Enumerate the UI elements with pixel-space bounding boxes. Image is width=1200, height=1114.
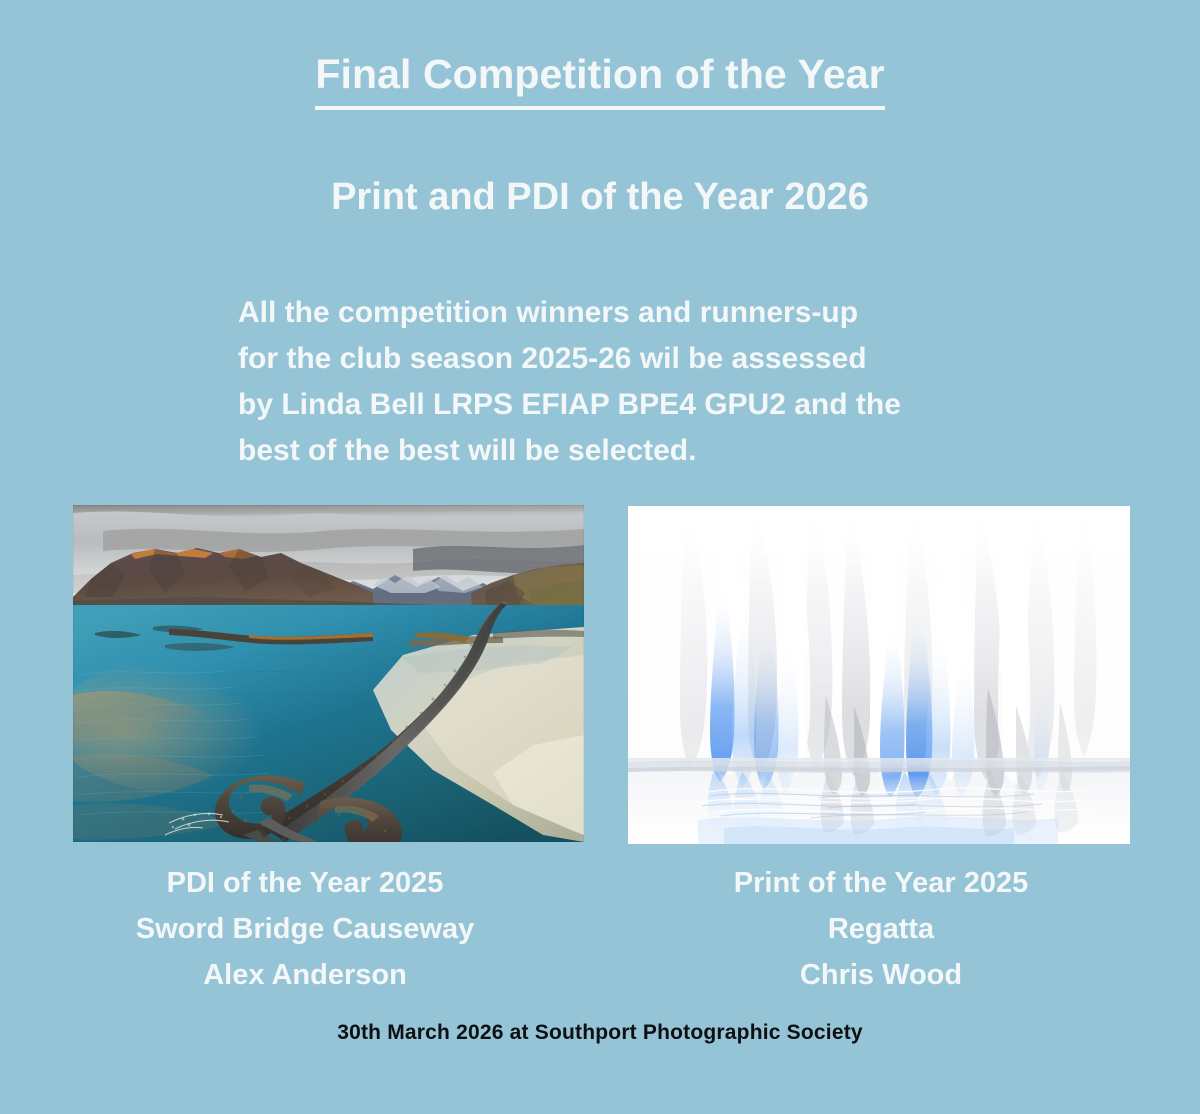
pdi-work-title: Sword Bridge Causeway	[55, 907, 555, 953]
print-winner-caption: Print of the Year 2025 Regatta Chris Woo…	[660, 861, 1102, 998]
pdi-author-name: Alex Anderson	[55, 953, 555, 999]
pdi-winner-photo-artwork	[73, 505, 584, 842]
page-title: Final Competition of the Year	[315, 52, 884, 110]
description-line-2: for the club season 2025-26 wil be asses…	[238, 336, 998, 382]
description-line-1: All the competition winners and runners-…	[238, 290, 998, 336]
description-line-3: by Linda Bell LRPS EFIAP BPE4 GPU2 and t…	[238, 382, 998, 428]
pdi-award-label: PDI of the Year 2025	[55, 861, 555, 907]
description-paragraph: All the competition winners and runners-…	[238, 290, 998, 474]
description-line-4: best of the best will be selected.	[238, 428, 998, 474]
print-award-label: Print of the Year 2025	[660, 861, 1102, 907]
poster-canvas: Final Competition of the Year Print and …	[0, 0, 1200, 1114]
print-author-name: Chris Wood	[660, 953, 1102, 999]
page-subtitle: Print and PDI of the Year 2026	[0, 175, 1200, 221]
page-title-container: Final Competition of the Year	[0, 52, 1200, 110]
event-footer: 30th March 2026 at Southport Photographi…	[0, 1021, 1200, 1045]
print-work-title: Regatta	[660, 907, 1102, 953]
pdi-winner-photo	[73, 505, 584, 842]
print-winner-photo-artwork	[628, 506, 1130, 844]
pdi-winner-caption: PDI of the Year 2025 Sword Bridge Causew…	[55, 861, 555, 998]
print-winner-photo	[628, 506, 1130, 844]
